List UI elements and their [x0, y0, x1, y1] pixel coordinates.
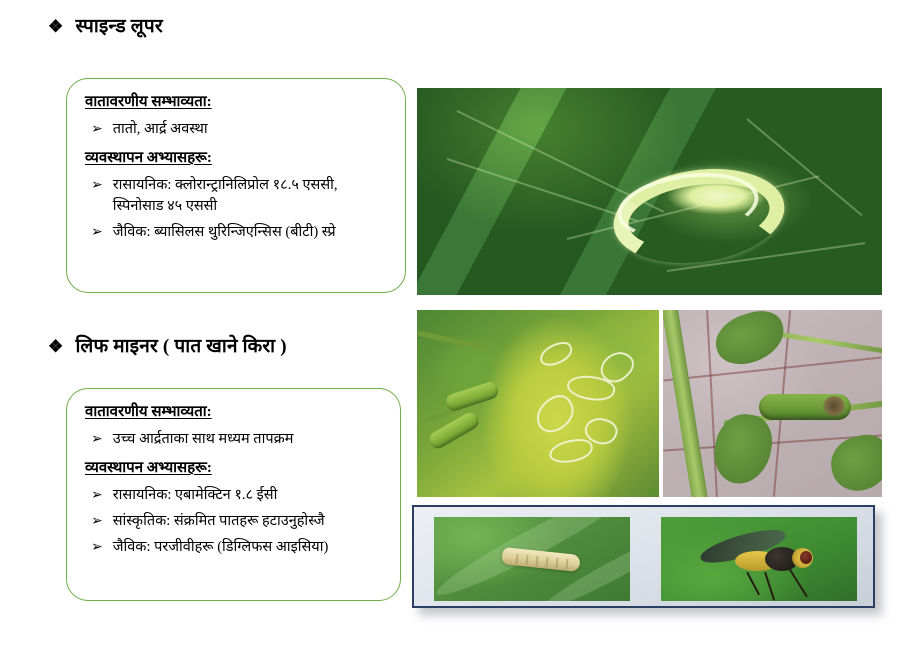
arrow-bullet-icon: ➢ [91, 485, 103, 506]
sub-heading-environmental-favourability: वातावरणीय सम्भाव्यता: [85, 403, 384, 422]
list-item: ➢ रासायनिक: एबामेक्टिन १.८ ईसी [85, 485, 384, 506]
gourd-lesion [823, 396, 845, 416]
arrow-bullet-icon: ➢ [91, 119, 103, 140]
list-item-text: रासायनिक: क्लोरान्ट्रानिलिप्रोल १८.५ एसस… [113, 175, 389, 217]
list-item-text: सांस्कृतिक: संक्रमित पातहरू हटाउनुहोस्जै [113, 511, 384, 532]
diamond-bullet-icon: ❖ [48, 338, 63, 355]
arrow-bullet-icon: ➢ [91, 511, 103, 532]
damaged-gourd-photo [663, 310, 882, 497]
list-item: ➢ रासायनिक: क्लोरान्ट्रानिलिप्रोल १८.५ ए… [85, 175, 389, 217]
bullet-list-environmental-favourability: ➢ उच्च आर्द्रताका साथ मध्यम तापक्रम [85, 429, 384, 450]
diamond-bullet-icon: ❖ [48, 18, 63, 35]
info-box-leaf-miner: वातावरणीय सम्भाव्यता: ➢ उच्च आर्द्रताका … [66, 388, 401, 601]
section-heading-leaf-miner: ❖ लिफ माइनर ( पात खाने किरा ) [48, 332, 287, 358]
bullet-list-management-practices: ➢ रासायनिक: क्लोरान्ट्रानिलिप्रोल १८.५ ए… [85, 175, 389, 243]
list-item: ➢ जैविक: परजीवीहरू (डिग्लिफस आइसिया) [85, 537, 384, 558]
list-item-text: जैविक: ब्यासिलस थुरिन्जिएन्सिस (बीटी) स्… [113, 222, 389, 243]
list-item: ➢ जैविक: ब्यासिलस थुरिन्जिएन्सिस (बीटी) … [85, 222, 389, 243]
leaf-mine-damage-photo [417, 310, 659, 497]
list-item-text: रासायनिक: एबामेक्टिन १.८ ईसी [113, 485, 384, 506]
bullet-list-environmental-favourability: ➢ तातो, आर्द्र अवस्था [85, 119, 389, 140]
looper-caterpillar-photo [417, 88, 882, 295]
leafminer-maggot [501, 547, 580, 572]
arrow-bullet-icon: ➢ [91, 537, 103, 558]
section-heading-spined-looper: ❖ स्पाइन्ड लूपर [48, 12, 163, 38]
info-box-spined-looper: वातावरणीय सम्भाव्यता: ➢ तातो, आर्द्र अवस… [66, 78, 406, 293]
list-item-text: उच्च आर्द्रताका साथ मध्यम तापक्रम [113, 429, 384, 450]
leafminer-adult-photo [661, 517, 857, 601]
section-title-text: लिफ माइनर ( पात खाने किरा ) [75, 332, 286, 358]
sub-heading-environmental-favourability: वातावरणीय सम्भाव्यता: [85, 93, 389, 112]
arrow-bullet-icon: ➢ [91, 429, 103, 450]
list-item: ➢ सांस्कृतिक: संक्रमित पातहरू हटाउनुहोस्… [85, 511, 384, 532]
leafminer-larva-photo [434, 517, 630, 601]
sub-heading-management-practices: व्यवस्थापन अभ्यासहरू: [85, 459, 384, 478]
arrow-bullet-icon: ➢ [91, 175, 103, 196]
arrow-bullet-icon: ➢ [91, 222, 103, 243]
list-item: ➢ तातो, आर्द्र अवस्था [85, 119, 389, 140]
list-item-text: जैविक: परजीवीहरू (डिग्लिफस आइसिया) [113, 537, 384, 558]
list-item-text: तातो, आर्द्र अवस्था [113, 119, 389, 140]
list-item: ➢ उच्च आर्द्रताका साथ मध्यम तापक्रम [85, 429, 384, 450]
fly-eye [800, 551, 812, 564]
leafminer-stages-frame [412, 505, 875, 608]
section-title-text: स्पाइन्ड लूपर [75, 12, 162, 38]
sub-heading-management-practices: व्यवस्थापन अभ्यासहरू: [85, 149, 389, 168]
bullet-list-management-practices: ➢ रासायनिक: एबामेक्टिन १.८ ईसी ➢ सांस्कृ… [85, 485, 384, 558]
